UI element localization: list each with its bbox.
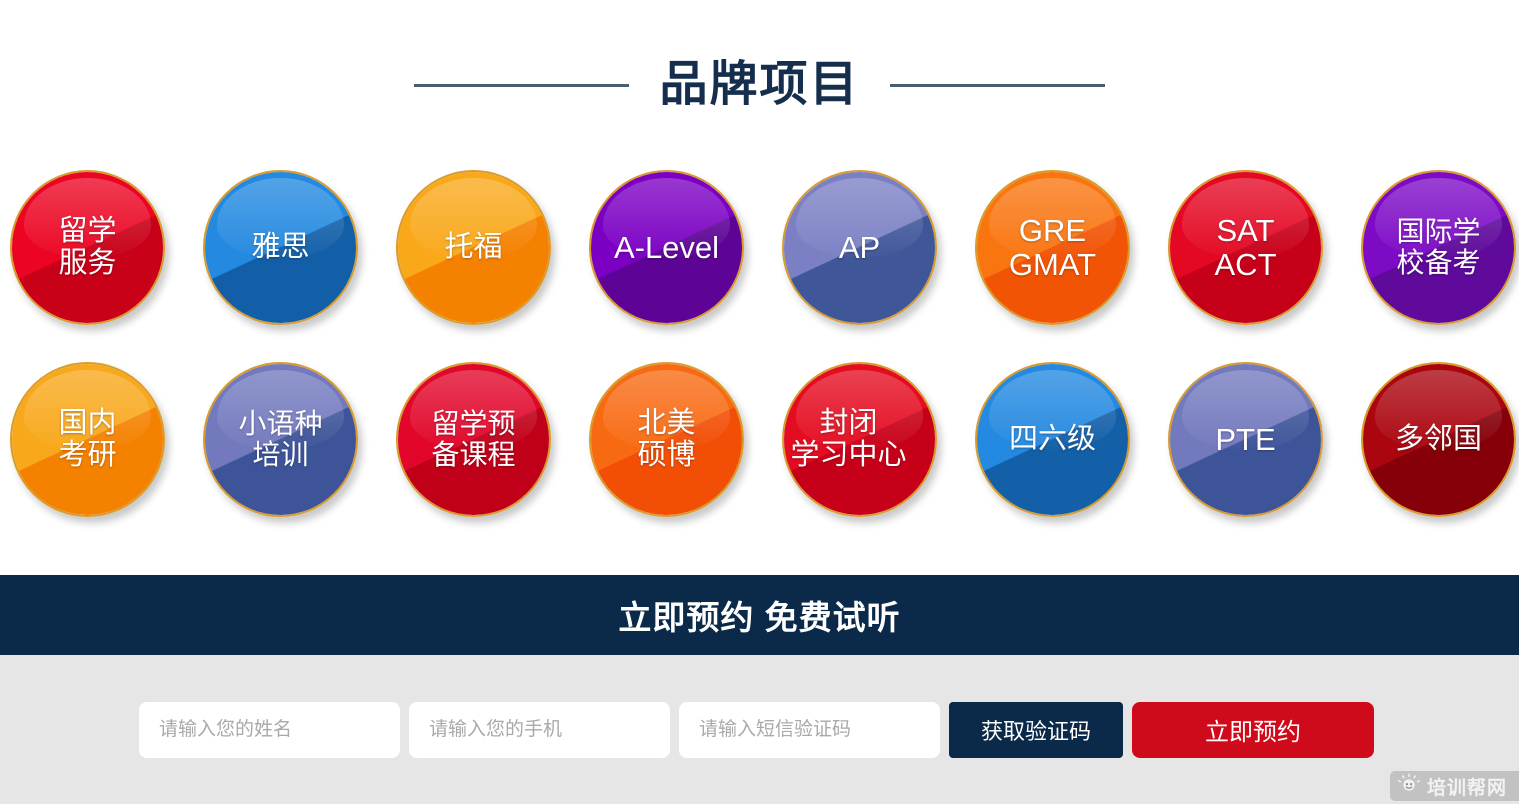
program-circle-label: 雅思 — [251, 232, 309, 263]
program-circle-label: SAT ACT — [1215, 214, 1277, 281]
program-circle[interactable]: 留学 服务 — [10, 170, 165, 325]
appointment-banner: 立即预约 免费试听 — [0, 575, 1519, 655]
program-circle-label: 四六级 — [1009, 424, 1096, 455]
program-circle[interactable]: 北美 硕博 — [589, 362, 744, 517]
program-circle-label: A-Level — [614, 231, 719, 264]
program-circle-label: 留学 服务 — [58, 216, 116, 279]
program-circle[interactable]: A-Level — [589, 170, 744, 325]
program-circle[interactable]: SAT ACT — [1168, 170, 1323, 325]
program-circle-label: 多邻国 — [1395, 424, 1482, 455]
program-circle-label: 小语种 培训 — [238, 409, 322, 469]
program-circle-label: 国际学 校备考 — [1396, 217, 1480, 277]
program-circle[interactable]: PTE — [1168, 362, 1323, 517]
program-circles-grid: 留学 服务雅思托福A-LevelAPGRE GMATSAT ACT国际学 校备考… — [0, 170, 1519, 575]
program-circle[interactable]: 四六级 — [975, 362, 1130, 517]
program-circle-label: 北美 硕博 — [637, 408, 695, 471]
site-watermark: 培训帮网 — [1390, 771, 1519, 801]
submit-appointment-button[interactable]: 立即预约 — [1132, 702, 1374, 758]
program-row-1: 留学 服务雅思托福A-LevelAPGRE GMATSAT ACT国际学 校备考 — [10, 170, 1519, 325]
appointment-form: 获取验证码 立即预约 — [0, 655, 1519, 804]
title-rule-right — [890, 84, 1105, 87]
appointment-banner-text: 立即预约 免费试听 — [618, 591, 900, 639]
program-circle[interactable]: 托福 — [396, 170, 551, 325]
program-row-2: 国内 考研小语种 培训留学预 备课程北美 硕博封闭 学习中心四六级PTE多邻国 — [10, 362, 1519, 517]
program-circle-label: PTE — [1215, 423, 1275, 456]
program-circle[interactable]: AP — [782, 170, 937, 325]
program-circle-label: 留学预 备课程 — [431, 409, 515, 469]
get-sms-code-button[interactable]: 获取验证码 — [949, 702, 1123, 758]
program-circle-label: AP — [839, 231, 880, 264]
program-circle[interactable]: 雅思 — [203, 170, 358, 325]
phone-input[interactable] — [409, 702, 670, 758]
watermark-label: 培训帮网 — [1427, 773, 1507, 800]
program-circle[interactable]: GRE GMAT — [975, 170, 1130, 325]
program-circle[interactable]: 封闭 学习中心 — [782, 362, 937, 517]
program-circle-label: 托福 — [444, 232, 502, 263]
section-header: 品牌项目 — [0, 0, 1519, 170]
program-circle-label: 封闭 学习中心 — [762, 408, 935, 471]
title-rule-left — [414, 84, 629, 87]
program-circle[interactable]: 多邻国 — [1361, 362, 1516, 517]
program-circle[interactable]: 国内 考研 — [10, 362, 165, 517]
sms-code-input[interactable] — [679, 702, 940, 758]
sun-smiley-icon — [1398, 773, 1420, 800]
program-circle-label: 国内 考研 — [58, 408, 116, 471]
name-input[interactable] — [139, 702, 400, 758]
program-circle[interactable]: 留学预 备课程 — [396, 362, 551, 517]
program-circle[interactable]: 小语种 培训 — [203, 362, 358, 517]
program-circle[interactable]: 国际学 校备考 — [1361, 170, 1516, 325]
program-circle-label: GRE GMAT — [1009, 214, 1096, 281]
page-title: 品牌项目 — [659, 61, 859, 109]
